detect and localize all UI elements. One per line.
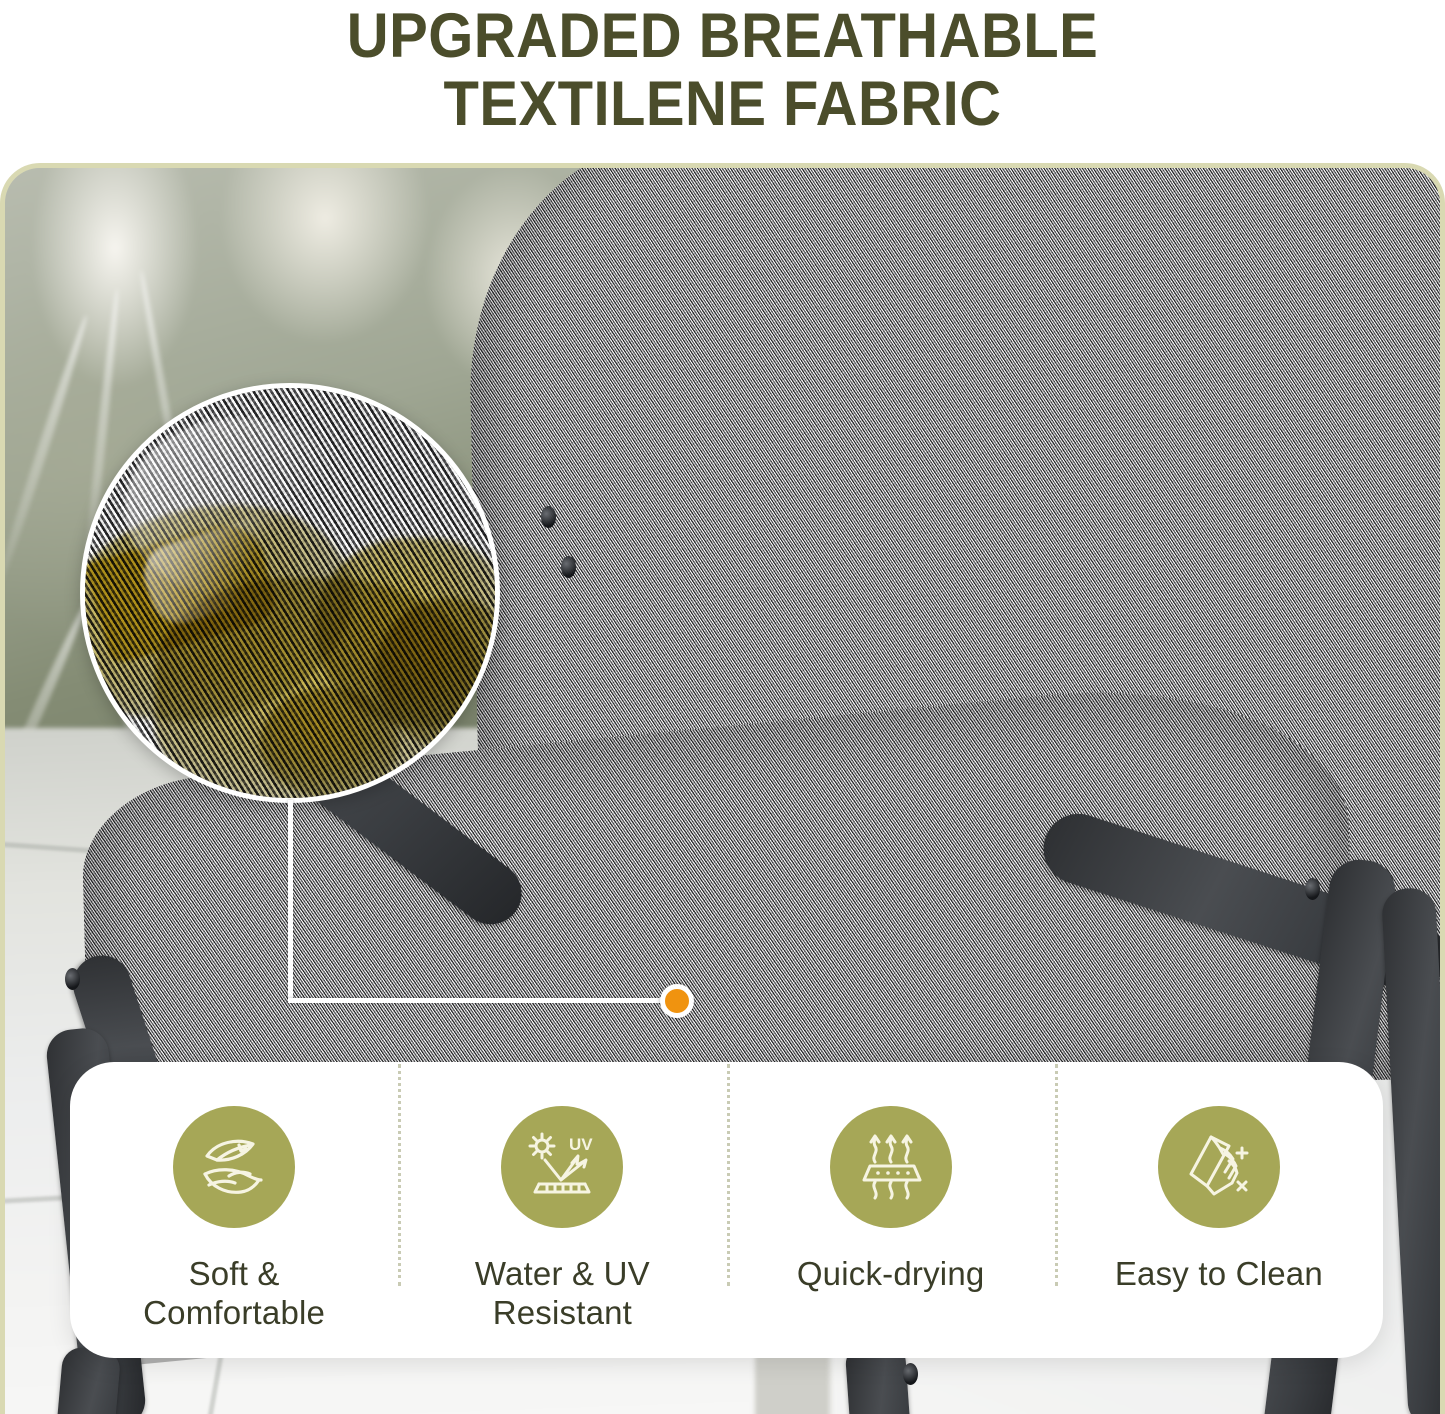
feature-highlights-card: Soft & Comfortable UV Water & UV Resi bbox=[70, 1062, 1383, 1358]
feature-water-uv-resistant[interactable]: UV Water & UV Resistant bbox=[398, 1062, 726, 1332]
feature-label: Easy to Clean bbox=[1115, 1254, 1323, 1293]
sun-uv-arrows-icon: UV bbox=[501, 1106, 623, 1228]
frame-rivet bbox=[541, 506, 556, 528]
product-infographic: UPGRADED BREATHABLE TEXTILENE FABRIC bbox=[0, 0, 1445, 1414]
frame-rivet bbox=[65, 968, 80, 990]
feature-soft-comfortable[interactable]: Soft & Comfortable bbox=[70, 1062, 398, 1332]
feature-label: Water & UV Resistant bbox=[475, 1254, 650, 1332]
feature-label: Quick-drying bbox=[797, 1254, 985, 1293]
liquid-spill bbox=[260, 688, 400, 798]
fabric-zoom-circle bbox=[80, 383, 500, 803]
page-title: UPGRADED BREATHABLE TEXTILENE FABRIC bbox=[58, 2, 1387, 138]
hand-wipe-sparkle-icon bbox=[1158, 1106, 1280, 1228]
callout-line-vertical bbox=[288, 800, 293, 1002]
feature-easy-to-clean[interactable]: Easy to Clean bbox=[1055, 1062, 1383, 1293]
hand-feather-icon bbox=[173, 1106, 295, 1228]
feature-quick-drying[interactable]: Quick-drying bbox=[727, 1062, 1055, 1293]
callout-line-horizontal bbox=[288, 998, 678, 1003]
frame-rivet bbox=[561, 556, 576, 578]
callout-point-marker bbox=[660, 984, 694, 1018]
frame-rivet bbox=[903, 1363, 918, 1385]
feature-label: Soft & Comfortable bbox=[143, 1254, 325, 1332]
airflow-fabric-icon bbox=[830, 1106, 952, 1228]
frame-rivet bbox=[1305, 878, 1320, 900]
svg-text:UV: UV bbox=[569, 1135, 593, 1154]
